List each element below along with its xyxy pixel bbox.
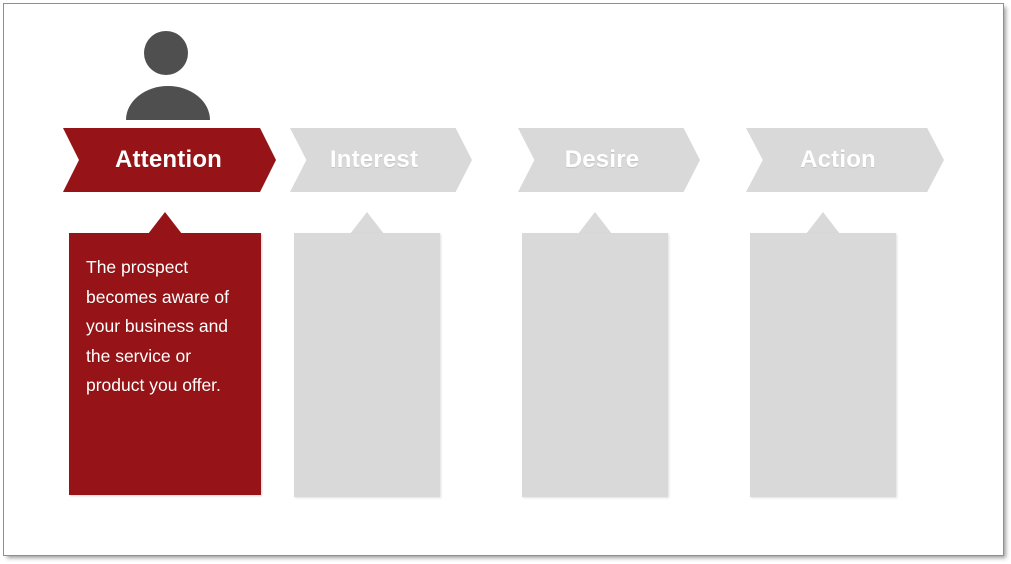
stage-chevron-attention[interactable]: Attention <box>63 128 276 192</box>
stage-chevron-desire[interactable]: Desire <box>518 128 700 192</box>
stage-chevron-action[interactable]: Action <box>746 128 944 192</box>
stage-label-attention: Attention <box>63 146 276 174</box>
stage-chevron-interest[interactable]: Interest <box>290 128 472 192</box>
slide-canvas: Attention Interest Desire Action The pro… <box>3 3 1004 556</box>
person-body-icon <box>126 86 210 120</box>
callout-body-interest <box>294 233 440 497</box>
stage-label-action: Action <box>746 146 944 174</box>
person-icon <box>126 28 216 124</box>
callout-notch-icon <box>148 212 182 234</box>
callout-notch-icon <box>350 212 384 234</box>
callout-body-attention: The prospect becomes aware of your busin… <box>69 233 261 495</box>
stage-label-interest: Interest <box>290 146 472 174</box>
callout-text-attention: The prospect becomes aware of your busin… <box>86 253 238 401</box>
callout-body-action <box>750 233 896 497</box>
callout-body-desire <box>522 233 668 497</box>
callout-notch-icon <box>806 212 840 234</box>
stage-label-desire: Desire <box>518 146 700 174</box>
person-head-icon <box>144 31 188 75</box>
callout-notch-icon <box>578 212 612 234</box>
